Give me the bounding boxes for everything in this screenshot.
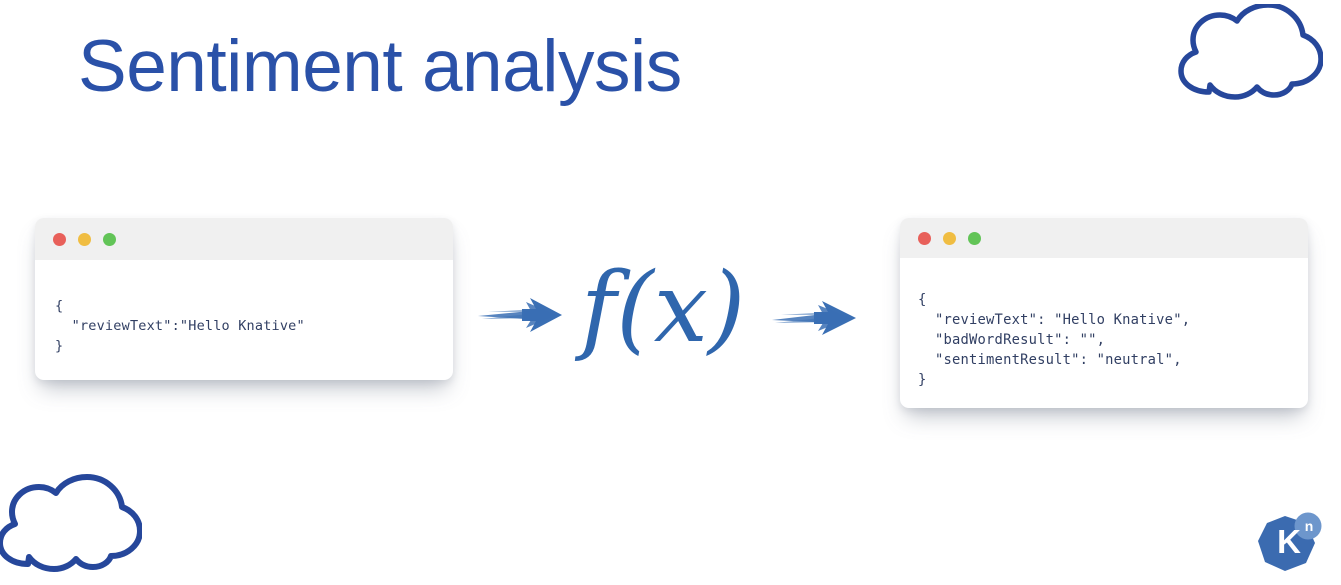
maximize-dot-icon[interactable] <box>103 233 116 246</box>
cloud-bottom-left-icon <box>0 470 142 585</box>
minimize-dot-icon[interactable] <box>943 232 956 245</box>
arrow-right-output-icon <box>772 300 858 341</box>
input-code-window: { "reviewText":"Hello Knative" } <box>35 218 453 380</box>
minimize-dot-icon[interactable] <box>78 233 91 246</box>
input-json-code: { "reviewText":"Hello Knative" } <box>35 274 453 356</box>
knative-logo: K n <box>1255 512 1325 576</box>
output-json-code: { "reviewText": "Hello Knative", "badWor… <box>900 272 1308 390</box>
transform-function-label: f(x) <box>568 248 758 368</box>
input-window-titlebar <box>35 218 453 260</box>
knative-logo-n-letter: n <box>1296 513 1322 539</box>
arrow-right-input-icon <box>478 296 564 339</box>
page-title: Sentiment analysis <box>78 30 682 103</box>
output-code-window: { "reviewText": "Hello Knative", "badWor… <box>900 218 1308 408</box>
close-dot-icon[interactable] <box>918 232 931 245</box>
close-dot-icon[interactable] <box>53 233 66 246</box>
output-window-titlebar <box>900 218 1308 258</box>
maximize-dot-icon[interactable] <box>968 232 981 245</box>
cloud-top-right-icon <box>1163 4 1323 109</box>
